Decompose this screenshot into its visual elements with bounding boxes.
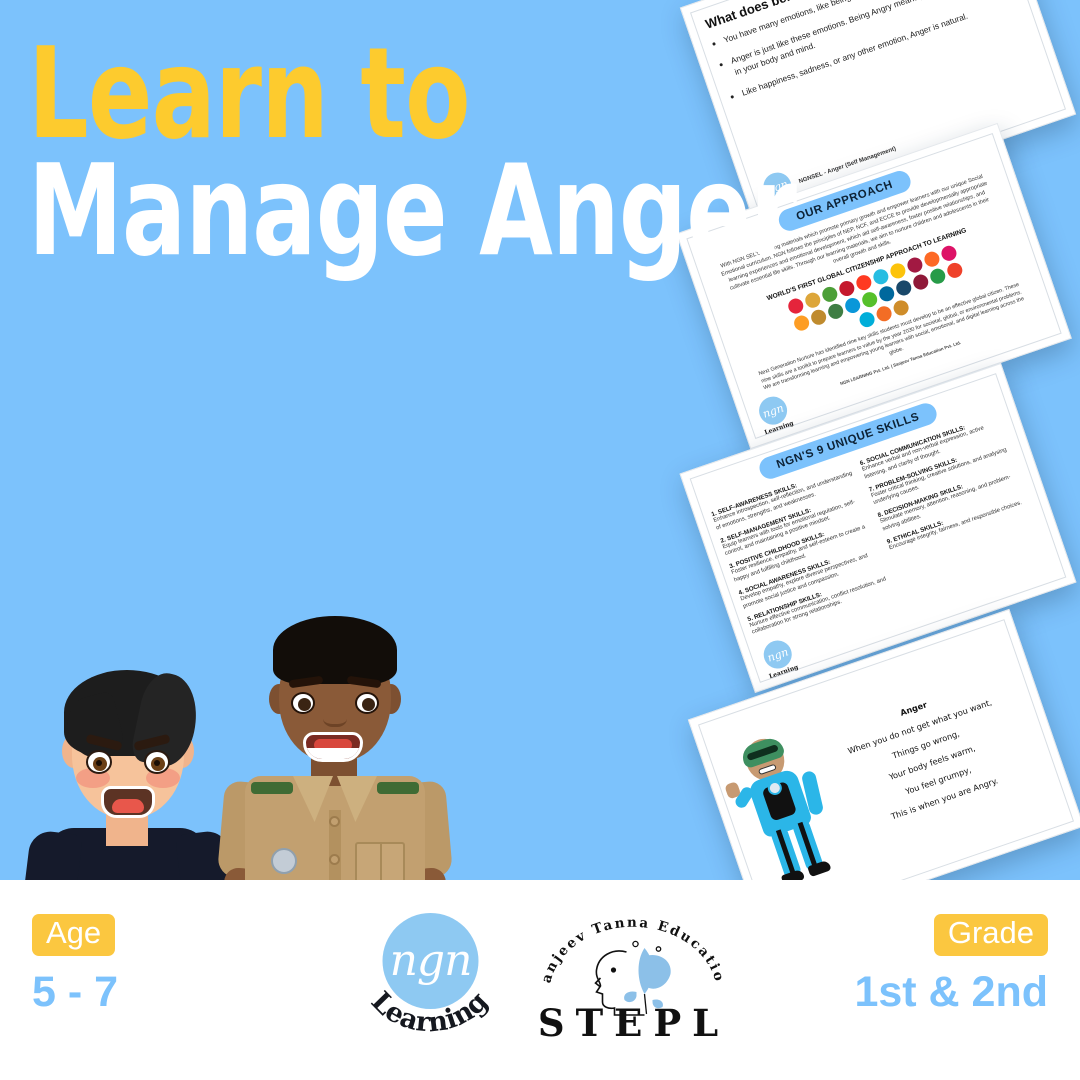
- footer-bar: Age 5 - 7 ngn Learning Sanjeev: [0, 880, 1080, 1080]
- stepl-arc-text: Sanjeev Tanna Education: [541, 908, 726, 985]
- sdg-goal-dot: [860, 290, 879, 309]
- age-badge: Age: [32, 914, 115, 956]
- sdg-goal-dot: [837, 279, 856, 298]
- sdg-goal-dot: [854, 273, 873, 292]
- sdg-goal-dot: [877, 284, 896, 303]
- grade-value: 1st & 2nd: [854, 968, 1048, 1017]
- poster-canvas: Learn to Manage Anger What does being An…: [0, 0, 1080, 1080]
- sdg-goal-dot: [928, 267, 947, 286]
- logo-row: ngn Learning Sanjeev Tanna Education: [355, 908, 726, 1040]
- sdg-goal-dot: [874, 304, 893, 323]
- title-line-2: Manage Anger: [28, 159, 796, 262]
- title-line-1: Learn to: [28, 42, 796, 145]
- anger-poem-lines: AngerWhen you do not get what you want,T…: [812, 669, 1050, 846]
- ngn-mark: ngn: [766, 645, 790, 664]
- sdg-goal-dot: [857, 310, 876, 329]
- sdg-goal-dot: [820, 285, 839, 304]
- ngn-word-text: Learning: [365, 986, 494, 1039]
- stepl-word: STEPL: [541, 1001, 726, 1040]
- sdg-goal-dot: [945, 261, 964, 280]
- sdg-goal-dot: [809, 308, 828, 327]
- sdg-goal-dot: [803, 291, 822, 310]
- grade-block: Grade 1st & 2nd: [854, 914, 1048, 1017]
- sdg-goal-dot: [888, 261, 907, 280]
- ngn-mark: ngn: [761, 401, 785, 420]
- age-block: Age 5 - 7: [32, 914, 118, 1017]
- grade-badge: Grade: [934, 914, 1048, 956]
- sdg-goal-dot: [826, 302, 845, 321]
- sdg-goal-dot: [911, 272, 930, 291]
- sdg-goal-dot: [786, 296, 805, 315]
- sdg-goal-dot: [843, 296, 862, 315]
- sdg-goal-dot: [894, 278, 913, 297]
- ngn-logo-icon: ngn Learning: [757, 636, 800, 679]
- ngn-word-arc: Learning: [355, 909, 505, 1039]
- sdg-goal-dot: [891, 298, 910, 317]
- ngn-learning-logo: ngn Learning: [355, 909, 505, 1039]
- sdg-goal-dot: [792, 313, 811, 332]
- stepl-logo: Sanjeev Tanna Education: [541, 908, 726, 1040]
- age-value: 5 - 7: [32, 968, 118, 1017]
- page-title: Learn to Manage Anger: [28, 42, 942, 263]
- slide3-footer: ngn Learning: [757, 636, 800, 679]
- sdg-goal-dot: [871, 267, 890, 286]
